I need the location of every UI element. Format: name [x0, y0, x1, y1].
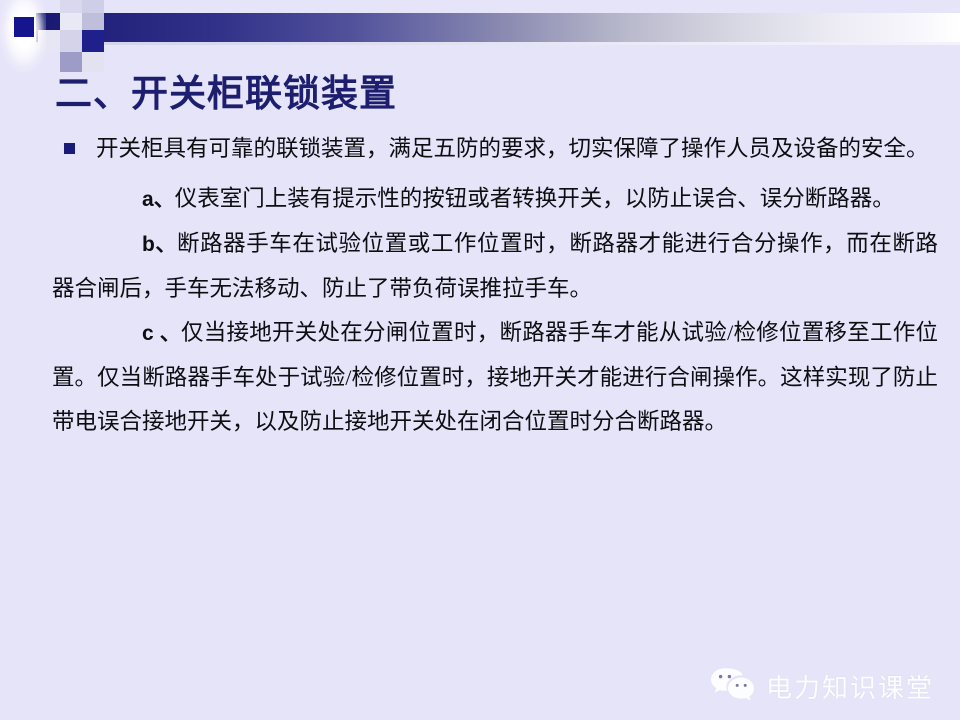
paragraph-a: a、仪表室门上装有提示性的按钮或者转换开关，以防止误合、误分断路器。	[0, 177, 960, 222]
slide-body: 开关柜具有可靠的联锁装置，满足五防的要求，切实保障了操作人员及设备的安全。 a、…	[0, 128, 960, 444]
page-title: 二、开关柜联锁装置	[55, 74, 397, 115]
header-decoration	[0, 0, 960, 72]
wechat-icon	[710, 667, 756, 706]
paragraph-c: c 、仅当接地开关处在分闸位置时，断路器手车才能从试验/检修位置移至工作位置。仅…	[0, 311, 960, 444]
header-gradient-echo	[36, 42, 960, 45]
paragraph-a-label: a	[142, 188, 154, 211]
deco-square-a	[60, 0, 82, 13]
paragraph-c-text: 仅当接地开关处在分闸位置时，断路器手车才能从试验/检修位置移至工作位置。仅当断路…	[52, 320, 938, 434]
deco-square-c	[60, 13, 82, 30]
paragraph-c-separator: 、	[154, 322, 181, 345]
slide: 二、开关柜联锁装置 开关柜具有可靠的联锁装置，满足五防的要求，切实保障了操作人员…	[0, 0, 960, 720]
paragraph-a-separator: 、	[154, 188, 175, 211]
bullet-item-text: 开关柜具有可靠的联锁装置，满足五防的要求，切实保障了操作人员及设备的安全。	[96, 136, 929, 161]
deco-square-navy-left	[14, 17, 34, 37]
paragraph-b: b、断路器手车在试验位置或工作位置时，断路器才能进行合分操作，而在断路器合闸后，…	[0, 222, 960, 311]
deco-square-f	[82, 52, 104, 72]
watermark: 电力知识课堂	[710, 667, 934, 706]
paragraph-b-text: 断路器手车在试验位置或工作位置时，断路器才能进行合分操作，而在断路器合闸后，手车…	[52, 231, 938, 301]
deco-square-navy-right	[82, 30, 104, 52]
deco-square-b	[82, 0, 104, 13]
paragraph-b-label: b	[142, 233, 155, 256]
deco-square-g	[60, 52, 82, 72]
paragraph-c-label: c	[142, 322, 154, 345]
watermark-text: 电力知识课堂	[766, 668, 934, 705]
deco-square-e	[60, 30, 82, 52]
paragraph-a-text: 仪表室门上装有提示性的按钮或者转换开关，以防止误合、误分断路器。	[175, 186, 895, 211]
bullet-item: 开关柜具有可靠的联锁装置，满足五防的要求，切实保障了操作人员及设备的安全。	[0, 128, 960, 169]
square-bullet-icon	[64, 143, 75, 154]
deco-square-d	[82, 13, 104, 30]
paragraph-b-separator: 、	[155, 233, 177, 256]
header-gradient-bar	[36, 13, 960, 42]
